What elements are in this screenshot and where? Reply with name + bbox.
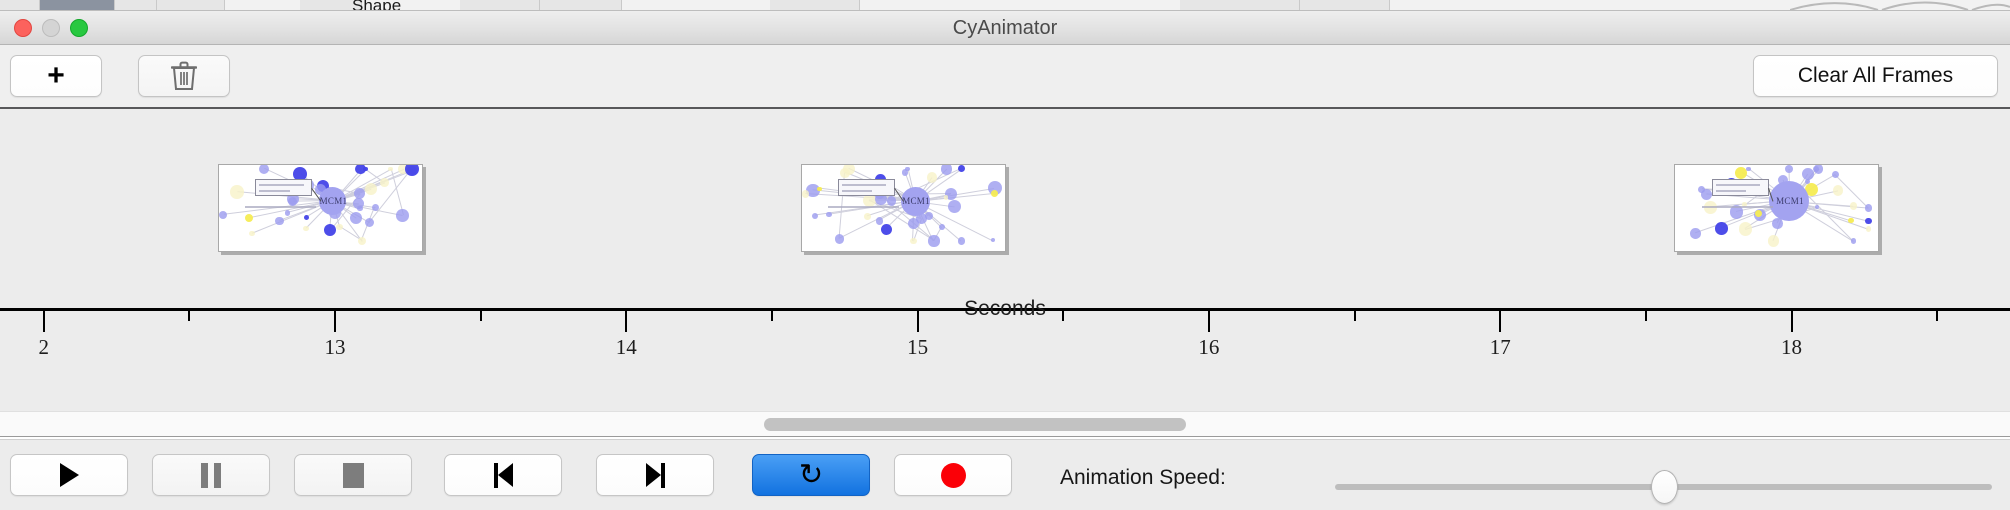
graph-node: [354, 188, 365, 199]
graph-node: [817, 187, 821, 191]
plus-icon: +: [47, 61, 65, 91]
play-button[interactable]: [10, 454, 128, 496]
graph-node: [905, 167, 910, 172]
graph-node: [1851, 238, 1856, 243]
graph-node: [991, 238, 995, 242]
graph-node: [958, 165, 965, 172]
stop-icon: [343, 463, 364, 488]
window-title: CyAnimator: [0, 11, 2010, 45]
graph-callout-box: [255, 179, 312, 196]
graph-node: [219, 211, 227, 219]
timeline-frame[interactable]: MCM1: [801, 164, 1006, 252]
graph-caption-text: [245, 206, 316, 208]
graph-node: [1833, 185, 1843, 195]
network-graph-thumbnail: MCM1: [1675, 165, 1878, 251]
graph-node: [802, 190, 810, 198]
callout-text-line: [259, 190, 289, 192]
graph-node: [826, 212, 831, 217]
graph-node: [864, 213, 871, 220]
graph-caption-text: [828, 206, 899, 208]
cyanimator-window: Shape CyAnimator + Clear Al: [0, 0, 2010, 510]
timeline-scrollbar[interactable]: [0, 411, 2010, 437]
graph-node: [1739, 222, 1752, 235]
animation-speed-slider[interactable]: [1335, 484, 1992, 490]
graph-node: [1768, 235, 1779, 246]
graph-node: [396, 209, 409, 222]
graph-node: [1802, 168, 1814, 180]
graph-node: [230, 185, 244, 199]
graph-node: [1698, 186, 1705, 193]
next-frame-button[interactable]: [596, 454, 714, 496]
axis-tick-label: 16: [1179, 335, 1239, 360]
loop-icon: ↻: [799, 461, 823, 490]
graph-node: [1814, 164, 1823, 173]
axis-tick-label: 17: [1470, 335, 1530, 360]
graph-node: [358, 237, 367, 246]
axis-tick-label: 2: [14, 335, 74, 360]
graph-hub-label: MCM1: [902, 196, 930, 206]
graph-node: [1866, 226, 1872, 232]
timeline-frame[interactable]: MCM1: [218, 164, 423, 252]
graph-node: [948, 200, 962, 214]
graph-node: [835, 234, 845, 244]
graph-node: [365, 218, 374, 227]
graph-node: [812, 213, 818, 219]
axis-tick-label: 14: [596, 335, 656, 360]
graph-node: [249, 231, 254, 236]
graph-node: [372, 204, 379, 211]
graph-node: [1785, 165, 1793, 173]
graph-node: [881, 224, 892, 235]
graph-node: [324, 224, 336, 236]
graph-node: [350, 212, 362, 224]
skip-forward-icon: [646, 463, 665, 488]
graph-caption-text: [1702, 206, 1773, 208]
frame-toolbar: + Clear All Frames: [0, 45, 2010, 108]
timeline-panel[interactable]: MCM1MCM1MCM1 2131415161718 Seconds: [0, 109, 2010, 411]
graph-node: [876, 217, 884, 225]
pause-button[interactable]: [152, 454, 270, 496]
background-window-strip: Shape: [0, 0, 2010, 11]
graph-node: [939, 224, 945, 230]
graph-node: [991, 190, 998, 197]
callout-text-line: [842, 184, 886, 186]
clear-all-frames-button[interactable]: Clear All Frames: [1753, 55, 1998, 97]
axis-tick-label: 18: [1762, 335, 1822, 360]
callout-text-line: [1716, 184, 1760, 186]
axis-tick-label: 15: [888, 335, 948, 360]
graph-callout-box: [838, 179, 895, 196]
animation-speed-thumb[interactable]: [1651, 470, 1678, 504]
graph-node: [259, 164, 270, 174]
graph-callout-box: [1712, 179, 1769, 196]
graph-node: [1746, 167, 1751, 172]
graph-node: [958, 237, 966, 245]
delete-frame-button[interactable]: [138, 55, 230, 97]
graph-node: [336, 224, 343, 231]
axis-title: Seconds: [0, 297, 2010, 321]
axis-tick-label: 13: [305, 335, 365, 360]
timeline-frame[interactable]: MCM1: [1674, 164, 1879, 252]
background-network-curve: [1790, 0, 2010, 11]
callout-text-line: [259, 184, 303, 186]
graph-node: [380, 178, 389, 187]
callout-text-line: [1716, 190, 1746, 192]
background-window-label: Shape: [352, 0, 401, 11]
previous-frame-button[interactable]: [444, 454, 562, 496]
graph-node: [887, 196, 897, 206]
graph-node: [928, 235, 939, 246]
graph-node: [245, 214, 253, 222]
graph-hub-label: MCM1: [1776, 196, 1804, 206]
graph-node: [1850, 202, 1858, 210]
loop-button[interactable]: ↻: [752, 454, 870, 496]
graph-node: [285, 210, 290, 215]
trash-icon: [171, 61, 197, 91]
skip-back-icon: [494, 463, 513, 488]
graph-node: [405, 164, 419, 176]
callout-text-line: [842, 190, 872, 192]
stop-button[interactable]: [294, 454, 412, 496]
graph-node: [843, 164, 856, 175]
graph-node: [304, 215, 309, 220]
graph-node: [927, 172, 937, 182]
record-icon: [941, 463, 966, 488]
scrollbar-thumb[interactable]: [764, 418, 1186, 431]
graph-node: [1865, 204, 1873, 212]
playback-control-bar: ↻ Animation Speed:: [0, 439, 2010, 510]
add-frame-button[interactable]: +: [10, 55, 102, 97]
graph-node: [365, 183, 377, 195]
network-graph-thumbnail: MCM1: [219, 165, 422, 251]
pause-icon: [201, 463, 221, 488]
graph-node: [1865, 218, 1872, 225]
play-icon: [60, 463, 79, 487]
graph-node: [1832, 171, 1839, 178]
animation-speed-label: Animation Speed:: [1060, 466, 1226, 490]
graph-node: [388, 167, 393, 172]
graph-node: [1848, 218, 1853, 223]
graph-node: [941, 164, 952, 175]
record-button[interactable]: [894, 454, 1012, 496]
graph-node: [357, 206, 363, 212]
graph-node: [303, 226, 308, 231]
graph-node: [275, 217, 284, 226]
graph-node: [910, 238, 917, 245]
clear-all-frames-label: Clear All Frames: [1798, 64, 1953, 88]
graph-node: [1690, 228, 1701, 239]
network-graph-thumbnail: MCM1: [802, 165, 1005, 251]
graph-node: [1715, 222, 1728, 235]
graph-node: [363, 167, 368, 172]
title-bar[interactable]: CyAnimator: [0, 11, 2010, 45]
graph-hub-label: MCM1: [320, 196, 348, 206]
